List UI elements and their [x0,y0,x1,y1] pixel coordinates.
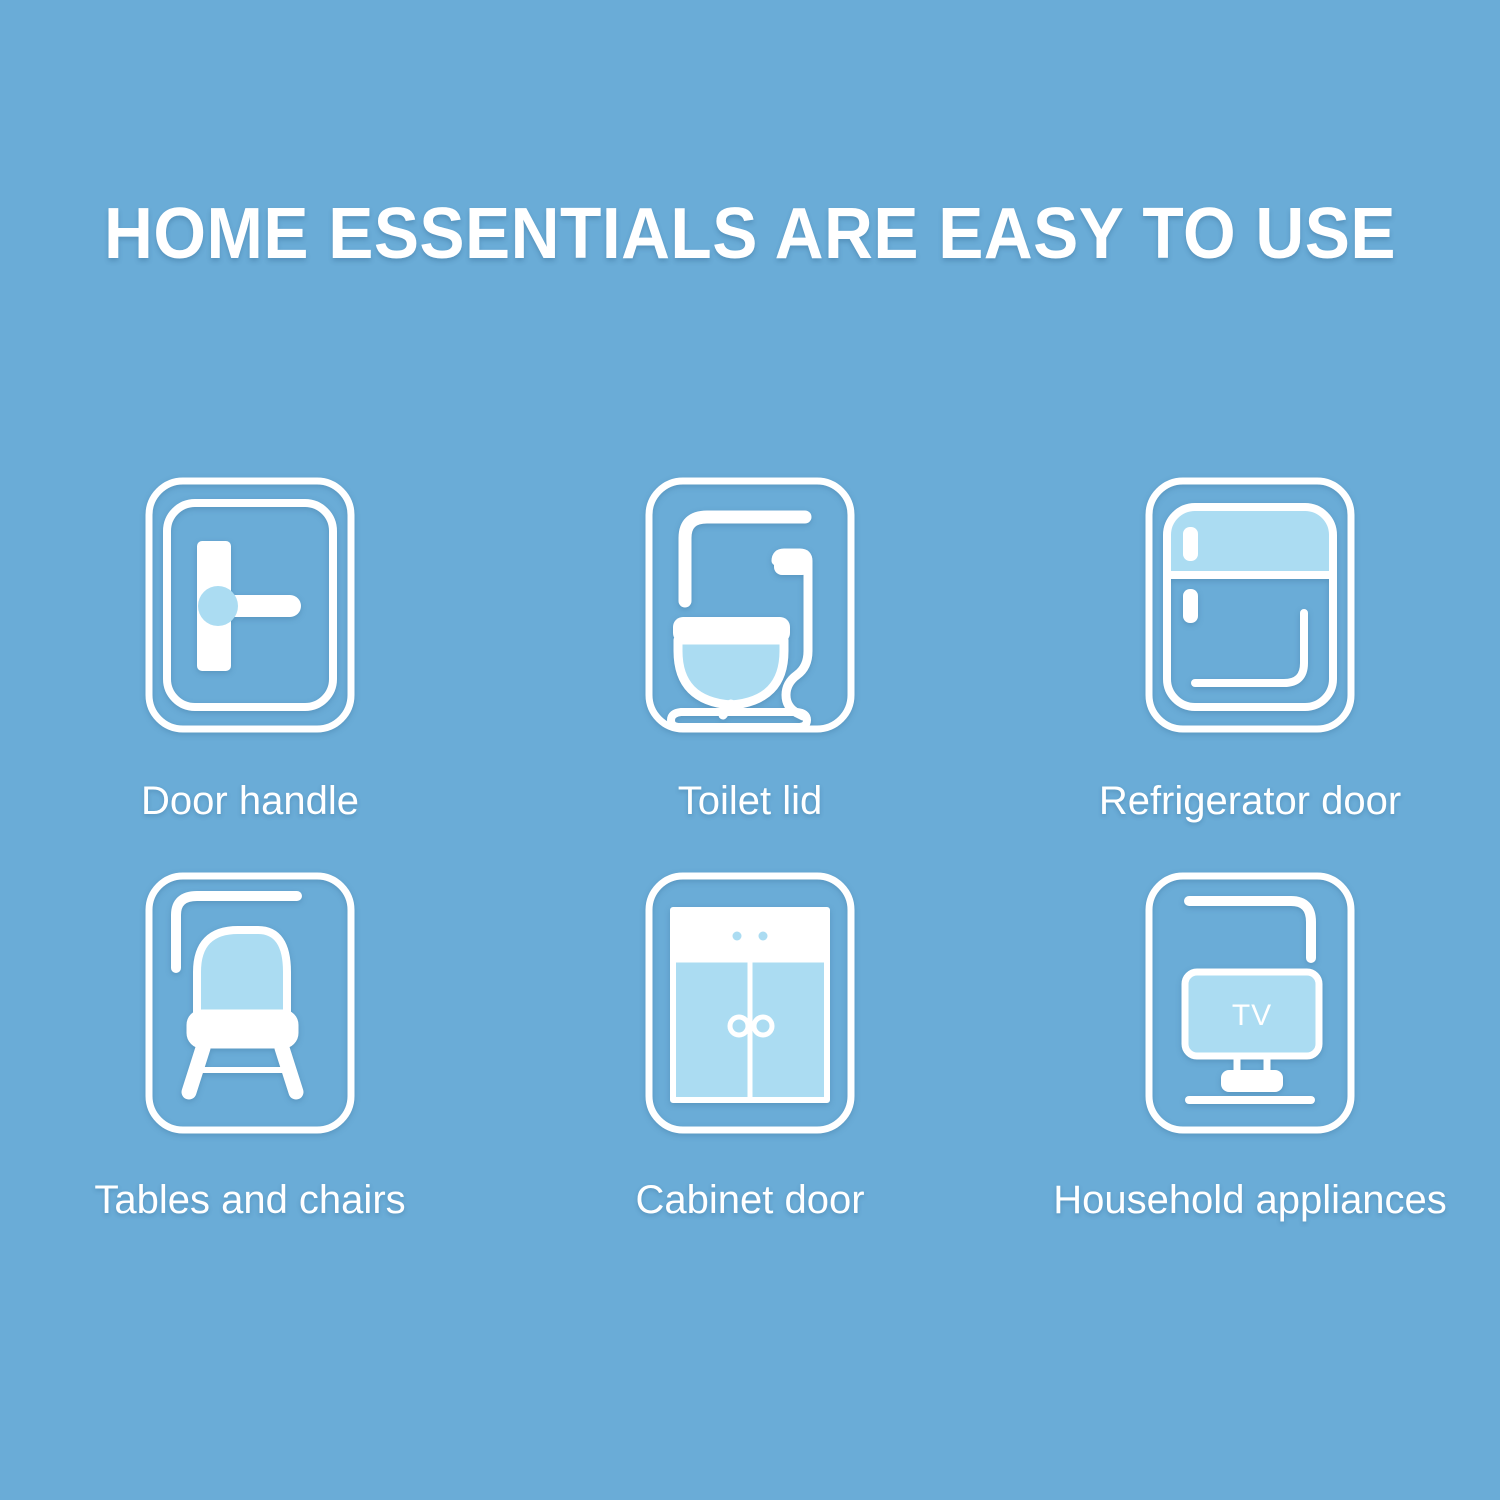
feature-grid: Door handle [0,455,1500,1260]
feature-card-cabinet-door[interactable]: Cabinet door [520,860,980,1260]
feature-label: Toilet lid [678,781,823,821]
poster-canvas: HOME ESSENTIALS ARE EASY TO USE Do [0,0,1500,1500]
feature-card-refrigerator-door[interactable]: Refrigerator door [1020,455,1480,860]
page-title: HOME ESSENTIALS ARE EASY TO USE [45,198,1455,270]
chair-icon [145,860,355,1140]
door-handle-icon [145,455,355,735]
feature-card-tables-and-chairs[interactable]: Tables and chairs [20,860,480,1260]
feature-label: Household appliances [1053,1180,1447,1220]
refrigerator-door-icon [1145,455,1355,735]
toilet-lid-icon [645,455,855,735]
cabinet-door-icon [645,860,855,1140]
feature-card-door-handle[interactable]: Door handle [20,455,480,860]
feature-label: Tables and chairs [94,1180,405,1220]
feature-label: Cabinet door [635,1180,864,1220]
television-icon: TV [1145,860,1355,1140]
feature-card-toilet-lid[interactable]: Toilet lid [520,455,980,860]
feature-card-household-appliances[interactable]: TV Household appliances [1020,860,1480,1260]
feature-label: Door handle [141,781,359,821]
tv-screen-text: TV [1232,999,1272,1032]
feature-label: Refrigerator door [1099,781,1401,821]
